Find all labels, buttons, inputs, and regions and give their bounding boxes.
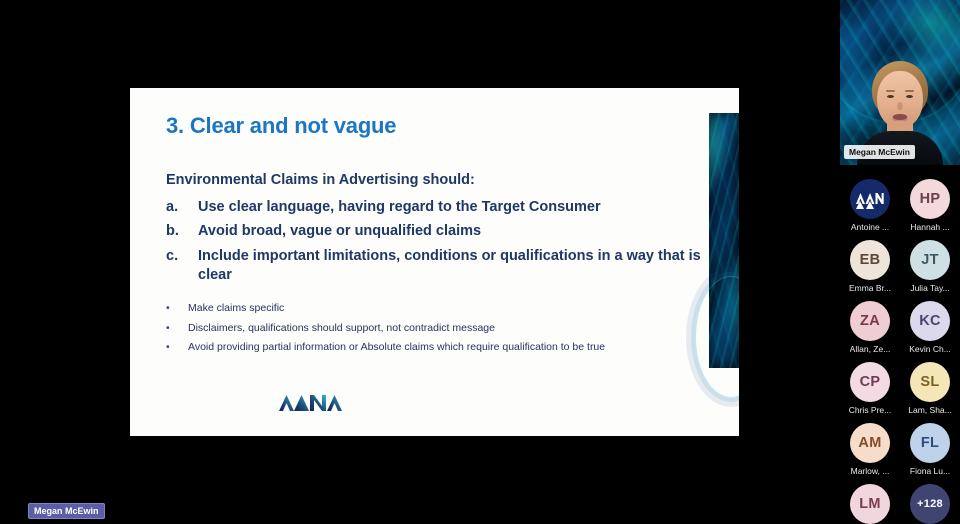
participant-name-label: Antoine ...	[851, 222, 889, 232]
participant-avatar[interactable]: CP	[850, 362, 890, 402]
participant-filmstrip[interactable]: Megan McEwin Antoine ...HPHannah ...EBEm…	[840, 0, 960, 524]
participant-avatar[interactable]: JT	[910, 240, 950, 280]
participant-name-label: Kevin Ch...	[909, 344, 951, 354]
eye-left	[887, 95, 894, 98]
active-speaker-name-label: Megan McEwin	[844, 145, 915, 159]
participant-avatar[interactable]: ZA	[850, 301, 890, 341]
list-item: • Disclaimers, qualifications should sup…	[166, 321, 739, 337]
eyebrow-left	[886, 90, 895, 92]
participant-tile[interactable]: SLLam, Sha...	[900, 362, 960, 415]
participant-tile[interactable]: HPHannah ...	[900, 179, 960, 232]
participant-name-label: Marlow, ...	[851, 466, 890, 476]
list-marker: a.	[166, 198, 198, 217]
slide-title: 3. Clear and not vague	[166, 114, 739, 138]
list-marker: c.	[166, 247, 198, 285]
overflow-count-avatar[interactable]: +128	[910, 484, 950, 524]
meeting-window: 3. Clear and not vague Environmental Cla…	[0, 0, 960, 524]
participant-avatar[interactable]: EB	[850, 240, 890, 280]
eyebrow-right	[905, 90, 914, 92]
aana-logo-icon	[855, 188, 885, 210]
participant-avatar[interactable]: LM	[850, 484, 890, 524]
participant-name-label: Emma Br...	[849, 283, 891, 293]
list-item: b. Avoid broad, vague or unqualified cla…	[166, 222, 739, 241]
participant-tile[interactable]: AMMarlow, ...	[840, 423, 900, 476]
bullet-icon: •	[166, 301, 188, 317]
eye-right	[906, 95, 913, 98]
list-item: a. Use clear language, having regard to …	[166, 198, 739, 217]
list-marker: b.	[166, 222, 198, 241]
participant-tile[interactable]: CPChris Pre...	[840, 362, 900, 415]
list-text: Avoid providing partial information or A…	[188, 340, 605, 356]
participant-name-label: Fiona Lu...	[910, 466, 950, 476]
participant-tile[interactable]: KCKevin Ch...	[900, 301, 960, 354]
participant-avatar[interactable]: KC	[910, 301, 950, 341]
list-item: • Make claims specific	[166, 301, 739, 317]
presentation-slide: 3. Clear and not vague Environmental Cla…	[130, 88, 739, 436]
participant-name-label: Allan, Ze...	[850, 344, 891, 354]
slide-lead-text: Environmental Claims in Advertising shou…	[166, 171, 739, 189]
self-name-tag: Megan McEwin	[28, 503, 105, 519]
nose-shape	[898, 102, 903, 110]
participant-tile[interactable]: EBEmma Br...	[840, 240, 900, 293]
list-item: c. Include important limitations, condit…	[166, 247, 739, 285]
participant-name-label: Julia Tay...	[910, 283, 949, 293]
participant-avatar[interactable]: AM	[850, 423, 890, 463]
list-text: Make claims specific	[188, 301, 284, 317]
bullet-icon: •	[166, 321, 188, 337]
list-text: Include important limitations, condition…	[198, 247, 703, 285]
participant-tile[interactable]: Antoine ...	[840, 179, 900, 232]
participant-tile[interactable]: +128	[900, 484, 960, 524]
active-speaker-video-tile[interactable]: Megan McEwin	[840, 0, 960, 165]
list-text: Disclaimers, qualifications should suppo…	[188, 321, 495, 337]
participant-name-label: Lam, Sha...	[908, 405, 951, 415]
list-item: • Avoid providing partial information or…	[166, 340, 739, 356]
participant-grid[interactable]: Antoine ...HPHannah ...EBEmma Br...JTJul…	[840, 165, 960, 524]
slide-bullet-list: • Make claims specific • Disclaimers, qu…	[166, 301, 739, 356]
participant-tile[interactable]: ZAAllan, Ze...	[840, 301, 900, 354]
participant-avatar[interactable]: SL	[910, 362, 950, 402]
participant-tile[interactable]: FLFiona Lu...	[900, 423, 960, 476]
participant-avatar[interactable]: HP	[910, 179, 950, 219]
participant-name-label: Chris Pre...	[849, 405, 892, 415]
screen-share-stage[interactable]: 3. Clear and not vague Environmental Cla…	[0, 0, 840, 524]
aana-logo	[279, 390, 343, 412]
participant-tile[interactable]: LMLindsay ...	[840, 484, 900, 524]
slide-lettered-list: a. Use clear language, having regard to …	[166, 198, 739, 285]
bullet-icon: •	[166, 340, 188, 356]
participant-avatar[interactable]: FL	[910, 423, 950, 463]
participant-name-label: Hannah ...	[910, 222, 949, 232]
list-text: Use clear language, having regard to the…	[198, 198, 703, 217]
aana-logo-avatar[interactable]	[850, 179, 890, 219]
list-text: Avoid broad, vague or unqualified claims	[198, 222, 703, 241]
participant-tile[interactable]: JTJulia Tay...	[900, 240, 960, 293]
